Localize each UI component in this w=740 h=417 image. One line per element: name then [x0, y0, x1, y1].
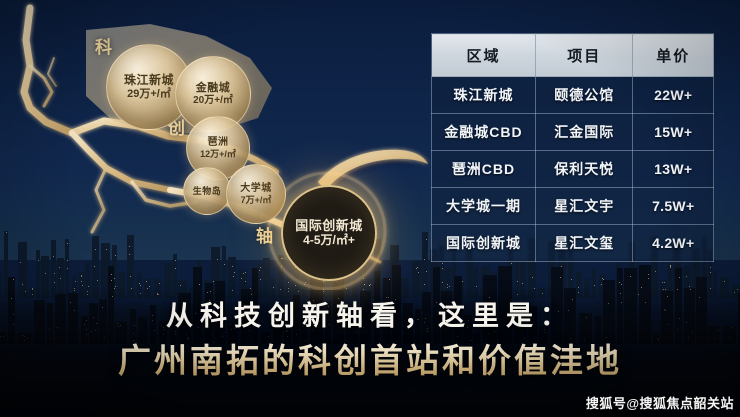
bubble-name: 珠江新城: [124, 74, 174, 87]
headline-line-1: 从科技创新轴看，这里是：: [0, 300, 740, 334]
watermark: 搜狐号@搜狐焦点韶关站: [586, 393, 734, 412]
cell-project: 颐德公馆: [535, 77, 633, 114]
table-body: 珠江新城颐德公馆22W+金融城CBD汇金国际15W+琶洲CBD保利天悦13W+大…: [432, 77, 714, 262]
bubble-value: 12万+/㎡: [200, 149, 236, 159]
table-row: 珠江新城颐德公馆22W+: [432, 77, 714, 114]
bubble-value: 29万+/㎡: [127, 88, 171, 100]
bubble-name: 生物岛: [193, 186, 222, 196]
column-header-project: 项目: [535, 34, 633, 77]
bubble-name: 金融城: [196, 82, 231, 94]
district-bubble: 生物岛: [183, 167, 231, 215]
bubble-name: 琶洲: [208, 137, 229, 148]
slide-canvas: 科创轴 珠江新城29万+/㎡金融城20万+/㎡琶洲12万+/㎡生物岛大学城7万+…: [0, 0, 740, 417]
bubble-name: 大学城: [240, 183, 272, 194]
cell-project: 星汇文宇: [535, 188, 633, 225]
axis-char-2: 轴: [256, 222, 274, 247]
table-row: 金融城CBD汇金国际15W+: [432, 114, 714, 151]
table-row: 大学城一期星汇文宇7.5W+: [432, 188, 714, 225]
district-bubble: 大学城7万+/㎡: [226, 164, 286, 224]
cell-project: 汇金国际: [535, 114, 633, 151]
headline-line-2: 广州南拓的科创首站和价值洼地: [0, 340, 740, 381]
cell-price: 7.5W+: [633, 188, 714, 225]
district-bubble: 国际创新城4-5万/㎡+: [281, 185, 377, 281]
cell-price: 4.2W+: [633, 225, 714, 262]
table-header: 区域 项目 单价: [432, 34, 714, 77]
elevated-road-ribbon: [318, 150, 428, 190]
cell-price: 13W+: [633, 151, 714, 188]
cell-price: 15W+: [633, 114, 714, 151]
cell-project: 保利天悦: [535, 151, 633, 188]
cell-district: 琶洲CBD: [432, 151, 536, 188]
bubble-name: 国际创新城: [295, 219, 363, 234]
bubble-value: 4-5万/㎡+: [303, 234, 355, 247]
cell-price: 22W+: [633, 77, 714, 114]
axis-char-0: 科: [95, 33, 113, 58]
bubble-value: 20万+/㎡: [193, 95, 233, 106]
table-header-row: 区域 项目 单价: [432, 34, 714, 77]
bubble-value: 7万+/㎡: [241, 195, 272, 205]
cell-district: 大学城一期: [432, 188, 536, 225]
table-row: 国际创新城星汇文玺4.2W+: [432, 225, 714, 262]
table-row: 琶洲CBD保利天悦13W+: [432, 151, 714, 188]
cell-district: 国际创新城: [432, 225, 536, 262]
column-header-district: 区域: [432, 34, 536, 77]
price-comparison-table: 区域 项目 单价 珠江新城颐德公馆22W+金融城CBD汇金国际15W+琶洲CBD…: [431, 33, 714, 262]
cell-district: 金融城CBD: [432, 114, 536, 151]
cell-project: 星汇文玺: [535, 225, 633, 262]
cell-district: 珠江新城: [432, 77, 536, 114]
column-header-price: 单价: [633, 34, 714, 77]
headline-block: 从科技创新轴看，这里是： 广州南拓的科创首站和价值洼地: [0, 300, 740, 381]
